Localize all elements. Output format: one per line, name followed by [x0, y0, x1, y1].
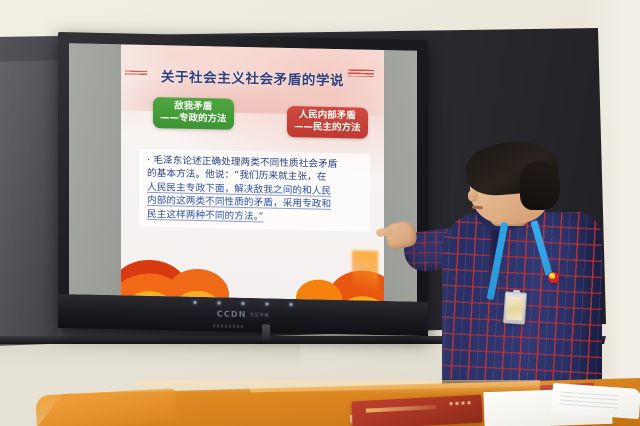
slide-sunburst-decoration: [121, 235, 384, 301]
red-book-title-mark-2: [450, 401, 472, 405]
slide-tag-enemy-contradiction: 敌我矛盾 ——专政的方法: [153, 97, 234, 130]
slide-tag-people-contradiction: 人民内部矛盾 ——民主的方法: [287, 106, 368, 139]
badge-card: [506, 296, 524, 320]
mouth: [472, 206, 483, 210]
page-text-lines: [560, 392, 619, 410]
hair-back: [520, 162, 560, 210]
led-3: [242, 302, 245, 305]
ir-sensor-bar: [213, 324, 243, 328]
bullet-glyph: ·: [147, 155, 150, 166]
interactive-flat-panel[interactable]: 关于社会主义社会矛盾的学说 敌我矛盾 ——专政的方法 人民内部矛盾 ——民主的方…: [58, 32, 428, 336]
display-screen[interactable]: 关于社会主义社会矛盾的学说 敌我矛盾 ——专政的方法 人民内部矛盾 ——民主的方…: [69, 43, 417, 302]
sunburst-streak: [352, 250, 378, 291]
display-port[interactable]: [262, 324, 270, 340]
tag-enemy-line1: 敌我矛盾: [174, 100, 212, 112]
desk-left-edge: [35, 388, 177, 426]
classroom-photo-scene: 关于社会主义社会矛盾的学说 敌我矛盾 ——专政的方法 人民内部矛盾 ——民主的方…: [0, 0, 640, 426]
display-indicator-leds[interactable]: [194, 301, 293, 306]
led-1: [194, 301, 197, 304]
tag-people-line2: ——民主的方法: [294, 121, 361, 134]
led-5: [290, 303, 293, 306]
screen-left-unlit-strip: [69, 43, 121, 295]
led-2: [218, 301, 221, 304]
tag-enemy-line2: ——专政的方法: [160, 112, 227, 125]
nose: [468, 190, 478, 202]
presentation-slide: 关于社会主义社会矛盾的学说 敌我矛盾 ——专政的方法 人民内部矛盾 ——民主的方…: [121, 44, 384, 301]
red-book-title-mark: [366, 405, 436, 413]
open-pages: [551, 383, 640, 419]
brand-wordmark-cn: 交互平板: [250, 312, 270, 318]
tag-people-line1: 人民内部矛盾: [299, 109, 356, 121]
slide-body-textbox: · 毛泽东论述正确处理两类不同性质社会矛盾 的基本方法。他说：“我们历来就主张，…: [139, 149, 370, 232]
brand-wordmark: CCDN: [217, 309, 247, 319]
badge-clip: [513, 290, 520, 294]
led-4: [266, 302, 269, 305]
display-brand-logo: CCDN 交互平板: [217, 309, 270, 319]
id-badge: [503, 291, 527, 324]
party-emblem-pin: [548, 272, 559, 283]
